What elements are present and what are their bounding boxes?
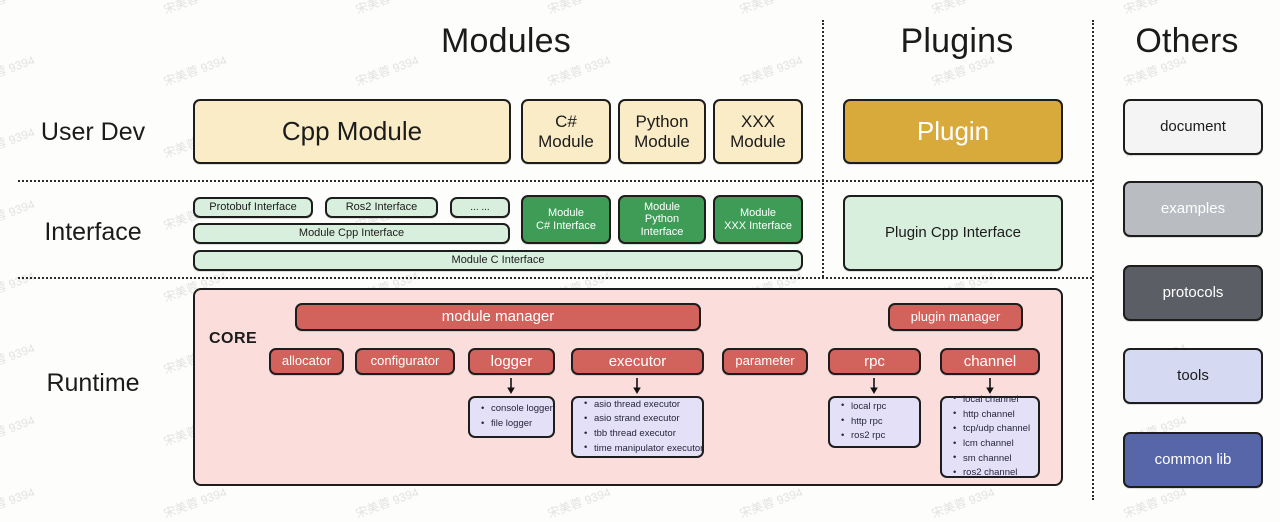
arrow-down-logger <box>504 378 518 394</box>
module-box-csharp[interactable]: C# Module <box>521 99 611 164</box>
interface-box-module-xxx[interactable]: Module XXX Interface <box>713 195 803 244</box>
core-sublist-item: lcm channel <box>963 437 1032 452</box>
interface-box-module-xxx-line1: Module <box>740 207 776 220</box>
watermark-text: 宋美蓉 9394 <box>737 0 805 18</box>
column-title-plugins: Plugins <box>824 24 1090 58</box>
module-box-python-line2: Module <box>634 132 690 152</box>
interface-box-module-python[interactable]: Module Python Interface <box>618 195 706 244</box>
interface-box-module-python-line2: Python Interface <box>624 213 700 238</box>
divider-interface-runtime <box>18 277 1092 279</box>
watermark-text: 宋美蓉 9394 <box>545 483 613 522</box>
module-box-csharp-line1: C# <box>555 112 577 132</box>
others-item-examples[interactable]: examples <box>1123 181 1263 237</box>
core-sublist-channel-items: local channelhttp channeltcp/udp channel… <box>950 393 1032 481</box>
core-component-configurator[interactable]: configurator <box>355 348 455 375</box>
core-sublist-item: asio strand executor <box>594 412 696 427</box>
module-box-python[interactable]: Python Module <box>618 99 706 164</box>
watermark-text: 宋美蓉 9394 <box>0 0 37 18</box>
interface-box-ros2[interactable]: Ros2 Interface <box>325 197 438 218</box>
core-sublist-item: asio thread executor <box>594 398 696 413</box>
core-sublist-item: tbb thread executor <box>594 427 696 442</box>
module-box-csharp-line2: Module <box>538 132 594 152</box>
arrow-down-rpc <box>867 378 881 394</box>
interface-box-protobuf[interactable]: Protobuf Interface <box>193 197 313 218</box>
diagram-canvas: 宋美蓉 9394宋美蓉 9394宋美蓉 9394宋美蓉 9394宋美蓉 9394… <box>0 0 1280 519</box>
core-sublist-executor-items: asio thread executorasio strand executor… <box>581 398 696 457</box>
interface-box-module-csharp-line2: C# Interface <box>536 220 596 233</box>
core-sublist-channel: local channelhttp channeltcp/udp channel… <box>940 396 1040 478</box>
interface-box-module-cpp[interactable]: Module Cpp Interface <box>193 223 510 244</box>
module-box-cpp[interactable]: Cpp Module <box>193 99 511 164</box>
watermark-text: 宋美蓉 9394 <box>0 267 37 306</box>
core-sublist-item: ros2 rpc <box>851 429 913 444</box>
watermark-text: 宋美蓉 9394 <box>353 483 421 522</box>
core-sublist-item: ros2 channel <box>963 466 1032 481</box>
core-component-rpc[interactable]: rpc <box>828 348 921 375</box>
core-module-manager[interactable]: module manager <box>295 303 701 331</box>
others-item-common-lib[interactable]: common lib <box>1123 432 1263 488</box>
module-box-xxx-line2: Module <box>730 132 786 152</box>
module-box-xxx-line1: XXX <box>741 112 775 132</box>
core-sublist-logger: console loggerfile logger <box>468 396 555 438</box>
core-sublist-item: tcp/udp channel <box>963 422 1032 437</box>
watermark-text: 宋美蓉 9394 <box>929 483 997 522</box>
core-plugin-manager[interactable]: plugin manager <box>888 303 1023 331</box>
divider-plugins-others <box>1092 20 1094 500</box>
core-sublist-item: console logger <box>491 402 547 417</box>
interface-box-module-xxx-line2: XXX Interface <box>724 220 792 233</box>
core-sublist-item: sm channel <box>963 452 1032 467</box>
watermark-text: 宋美蓉 9394 <box>161 0 229 18</box>
core-component-executor[interactable]: executor <box>571 348 704 375</box>
divider-modules-plugins <box>822 20 824 277</box>
row-label-runtime: Runtime <box>8 371 178 396</box>
arrow-down-executor <box>630 378 644 394</box>
core-component-parameter[interactable]: parameter <box>722 348 808 375</box>
core-sublist-rpc: local rpchttp rpcros2 rpc <box>828 396 921 448</box>
watermark-text: 宋美蓉 9394 <box>0 483 37 522</box>
others-item-protocols[interactable]: protocols <box>1123 265 1263 321</box>
interface-box-module-csharp[interactable]: Module C# Interface <box>521 195 611 244</box>
watermark-text: 宋美蓉 9394 <box>0 411 37 450</box>
watermark-text: 宋美蓉 9394 <box>545 0 613 18</box>
others-item-document[interactable]: document <box>1123 99 1263 155</box>
core-component-logger[interactable]: logger <box>468 348 555 375</box>
core-sublist-rpc-items: local rpchttp rpcros2 rpc <box>838 400 913 444</box>
watermark-text: 宋美蓉 9394 <box>737 483 805 522</box>
divider-userdev-interface <box>18 180 1092 182</box>
watermark-text: 宋美蓉 9394 <box>161 483 229 522</box>
core-component-channel[interactable]: channel <box>940 348 1040 375</box>
row-label-interface: Interface <box>8 220 178 245</box>
core-label: CORE <box>209 330 257 348</box>
core-sublist-item: http rpc <box>851 415 913 430</box>
watermark-text: 宋美蓉 9394 <box>929 0 997 18</box>
interface-box-ellipsis[interactable]: ... ... <box>450 197 510 218</box>
watermark-text: 宋美蓉 9394 <box>0 51 37 90</box>
column-title-modules: Modules <box>190 24 822 58</box>
core-sublist-executor: asio thread executorasio strand executor… <box>571 396 704 458</box>
others-item-tools[interactable]: tools <box>1123 348 1263 404</box>
watermark-text: 宋美蓉 9394 <box>353 0 421 18</box>
interface-box-module-csharp-line1: Module <box>548 207 584 220</box>
module-box-python-line1: Python <box>636 112 689 132</box>
interface-box-module-python-line1: Module <box>644 201 680 214</box>
core-sublist-item: local channel <box>963 393 1032 408</box>
watermark-text: 宋美蓉 9394 <box>1121 0 1189 18</box>
interface-box-plugin-cpp[interactable]: Plugin Cpp Interface <box>843 195 1063 271</box>
core-component-allocator[interactable]: allocator <box>269 348 344 375</box>
plugin-box[interactable]: Plugin <box>843 99 1063 164</box>
core-sublist-logger-items: console loggerfile logger <box>478 402 547 431</box>
interface-box-module-c[interactable]: Module C Interface <box>193 250 803 271</box>
core-sublist-item: local rpc <box>851 400 913 415</box>
column-title-others: Others <box>1094 24 1280 58</box>
row-label-user-dev: User Dev <box>8 120 178 145</box>
core-sublist-item: time manipulator executor <box>594 442 696 457</box>
watermark-text: 宋美蓉 9394 <box>1121 483 1189 522</box>
arrow-down-channel <box>983 378 997 394</box>
core-sublist-item: http channel <box>963 408 1032 423</box>
module-box-xxx[interactable]: XXX Module <box>713 99 803 164</box>
core-sublist-item: file logger <box>491 417 547 432</box>
